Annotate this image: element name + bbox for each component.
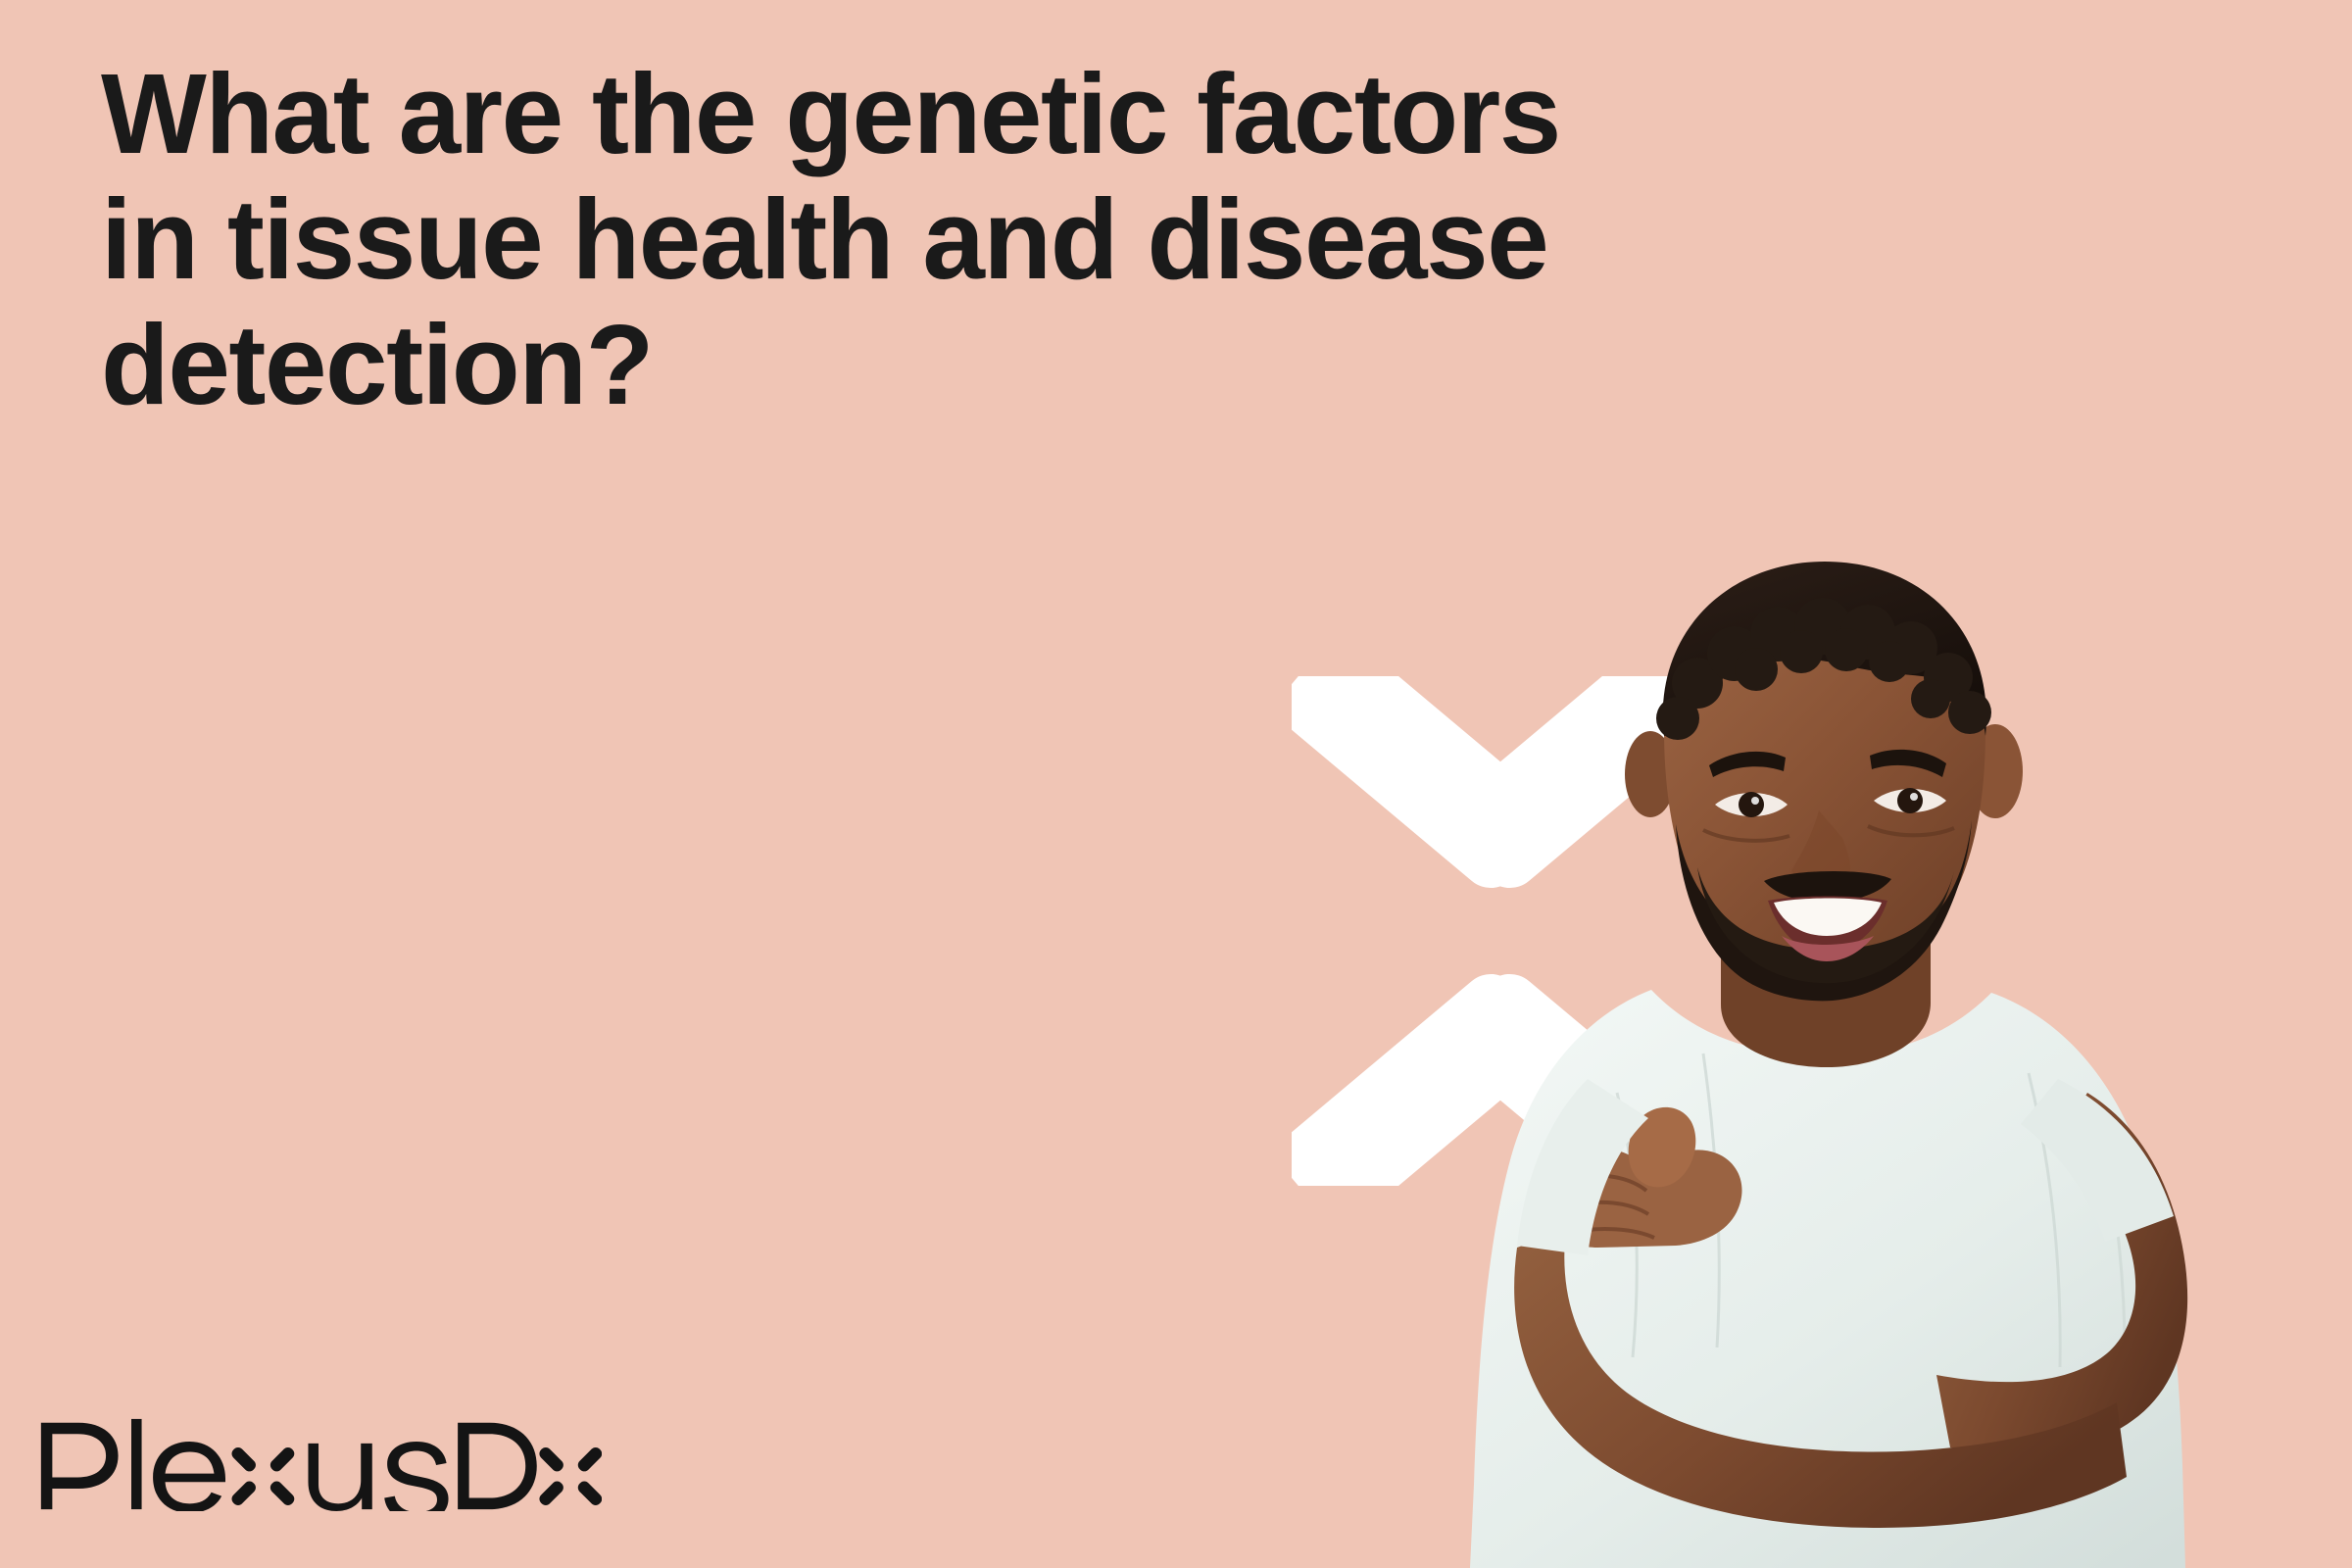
logo-letter-e bbox=[153, 1442, 225, 1511]
logo-letter-u bbox=[308, 1444, 371, 1511]
logo-letter-s bbox=[384, 1442, 448, 1511]
portrait-moustache bbox=[1764, 871, 1891, 903]
portrait-shirt bbox=[1470, 990, 2185, 1568]
portrait-ear-left bbox=[1625, 731, 1676, 817]
portrait-ear-right bbox=[1968, 724, 2023, 818]
portrait-head bbox=[1664, 577, 1985, 991]
portrait-nose bbox=[1791, 810, 1850, 884]
portrait-lower-lip bbox=[1782, 936, 1874, 961]
portrait-eyes bbox=[1703, 788, 1954, 841]
logo-letter-D bbox=[458, 1423, 537, 1509]
portrait-mouth bbox=[1768, 897, 1887, 955]
plexusdx-logo[interactable] bbox=[37, 1417, 602, 1511]
portrait-sleeve-left bbox=[1517, 1079, 1648, 1255]
plexusdx-x-watermark-icon bbox=[1292, 676, 1703, 1186]
portrait-brow-left bbox=[1709, 752, 1786, 777]
portrait-arm-left bbox=[1514, 1230, 2127, 1528]
portrait-neck bbox=[1721, 887, 1931, 1067]
watermark-stroke-bottom-left bbox=[1292, 962, 1565, 1186]
page-title: What are the genetic factors in tissue h… bbox=[101, 51, 2237, 427]
logo-letter-l bbox=[131, 1419, 142, 1509]
watermark-stroke-top-left bbox=[1292, 676, 1565, 900]
portrait-hand bbox=[1548, 1148, 1742, 1248]
social-card-canvas: What are the genetic factors in tissue h… bbox=[0, 0, 2352, 1568]
headline-line-1: What are the genetic factors bbox=[101, 51, 2205, 176]
shirt-folds bbox=[1617, 1053, 2125, 1387]
portrait-hair bbox=[1663, 562, 1986, 736]
headline-line-2: in tissue health and disease bbox=[101, 176, 2205, 302]
portrait-beard-fill bbox=[1697, 867, 1954, 983]
portrait-hair-curls bbox=[1656, 598, 1991, 740]
portrait-thumb bbox=[1629, 1107, 1696, 1188]
watermark-stroke-top-right bbox=[1436, 676, 1703, 900]
headline-line-3: detection? bbox=[101, 302, 2205, 427]
portrait-teeth bbox=[1774, 899, 1882, 937]
logo-letter-P bbox=[41, 1423, 119, 1509]
portrait-sleeve-right bbox=[2021, 1079, 2174, 1242]
watermark-stroke-bottom-right bbox=[1436, 962, 1703, 1186]
portrait-beard bbox=[1676, 820, 1972, 1001]
portrait-arm-right bbox=[1936, 1093, 2187, 1453]
portrait-photo bbox=[1441, 544, 2215, 1568]
logo-starburst-x-2 bbox=[537, 1445, 602, 1508]
portrait-brow-right bbox=[1870, 750, 1946, 777]
logo-starburst-x-1 bbox=[229, 1445, 297, 1508]
portrait-fingers bbox=[1562, 1176, 1654, 1238]
